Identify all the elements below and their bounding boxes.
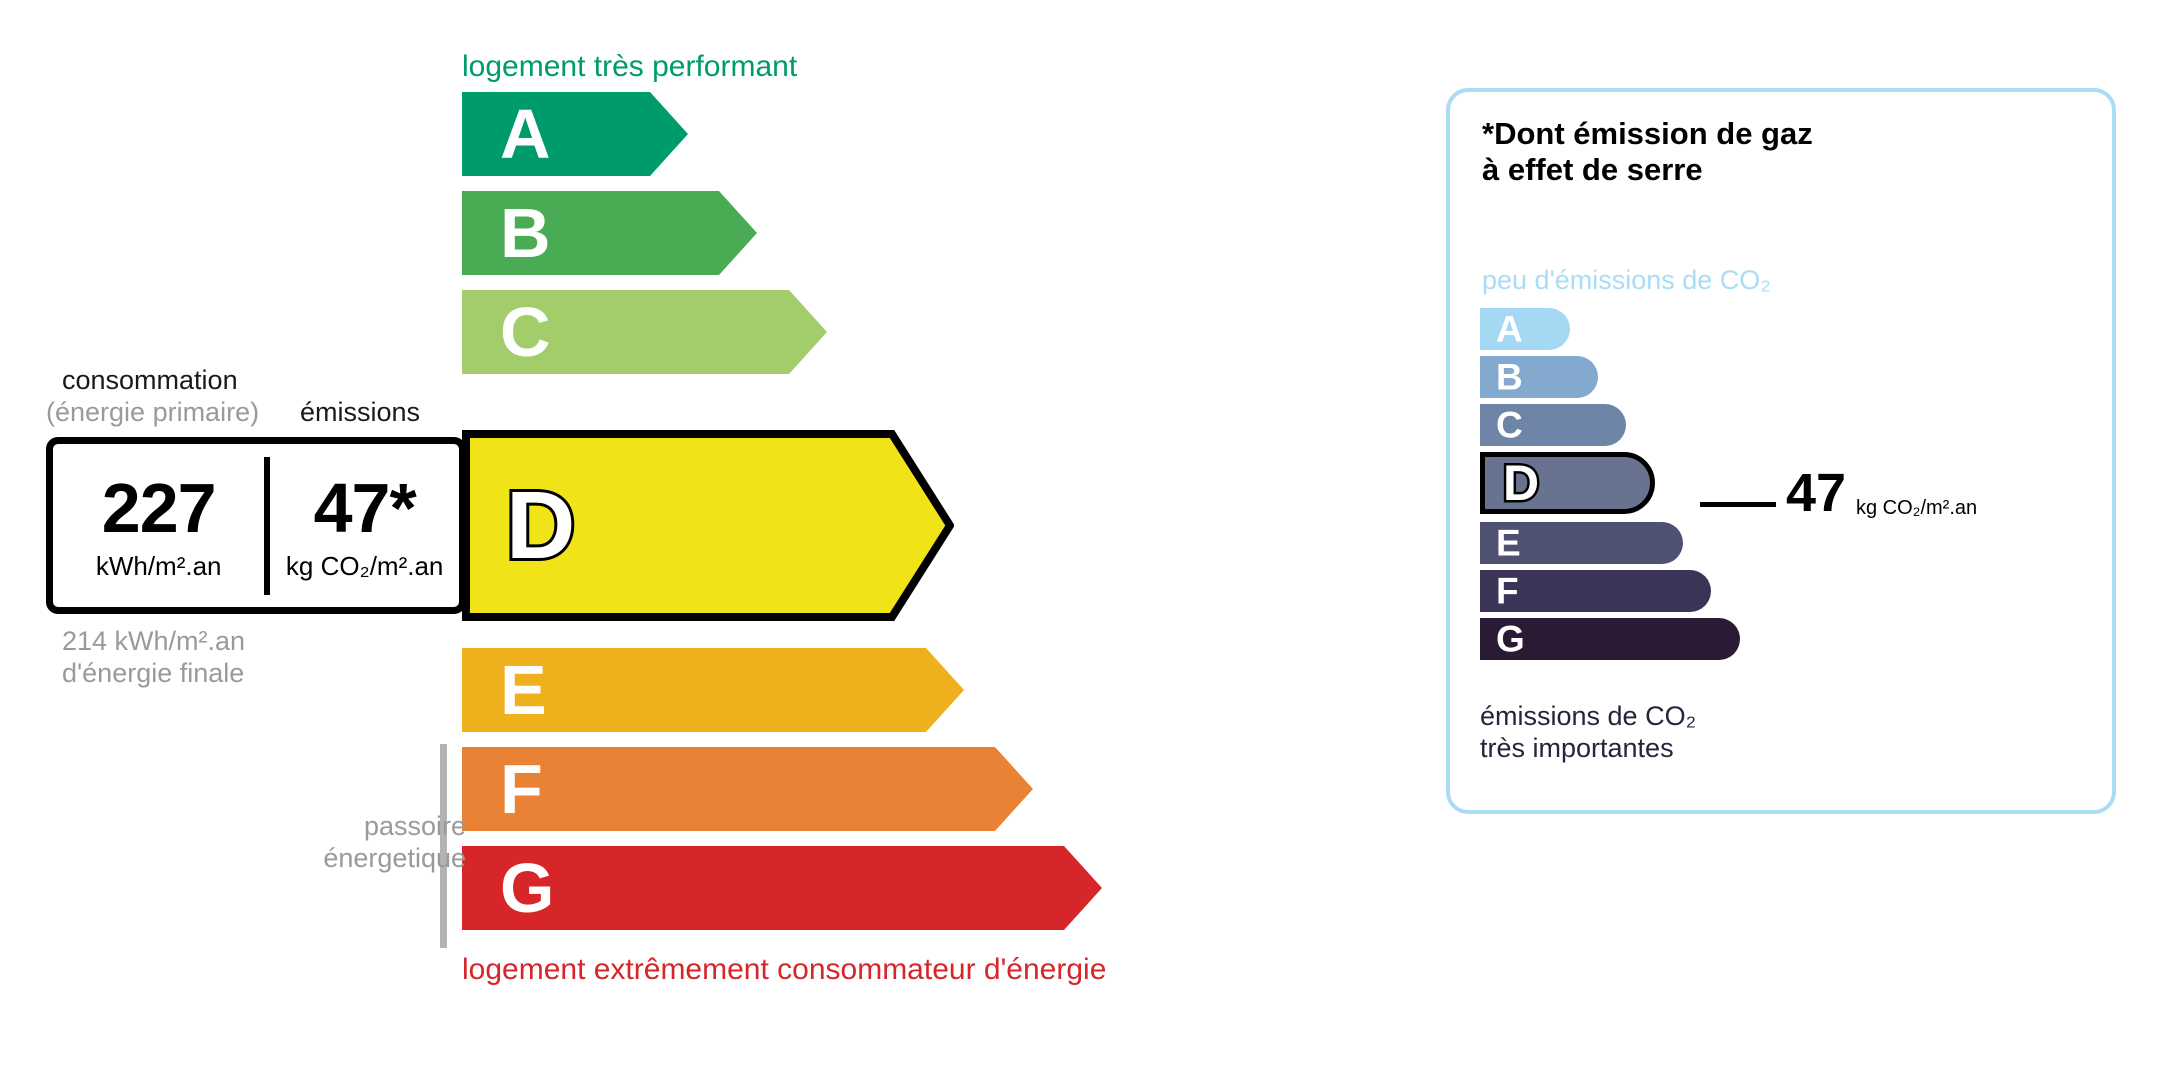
passoire-line-1: passoire (280, 811, 466, 843)
co2-panel-title: *Dont émission de gaz à effet de serre (1482, 116, 1813, 189)
co2-bar-shape-d: D (1480, 452, 1655, 514)
energie-finale-label: 214 kWh/m².an d'énergie finale (62, 626, 245, 690)
energy-arrow-shape-e (462, 648, 964, 732)
energy-bar-e: E (462, 648, 964, 732)
energy-consumption-panel: logement très performant A B C (0, 0, 1400, 1079)
co2-letter-e: E (1496, 525, 1521, 562)
co2-bar-f: F (1480, 570, 1711, 612)
co2-bar-shape-a: A (1480, 308, 1570, 350)
consumption-number: 227 (53, 473, 264, 543)
co2-callout-unit: kg CO₂/m².an (1856, 497, 1977, 520)
energy-arrow-shape-c (462, 290, 827, 374)
co2-bar-c: C (1480, 404, 1626, 446)
co2-bar-a: A (1480, 308, 1570, 350)
emissions-label: émissions (300, 397, 420, 428)
co2-letter-d: D (1503, 458, 1539, 508)
co2-letter-a: A (1496, 311, 1523, 348)
energy-bar-g: G (462, 846, 1102, 930)
co2-letter-b: B (1496, 359, 1523, 396)
co2-bar-shape-g: G (1480, 618, 1740, 660)
co2-top-caption: peu d'émissions de CO₂ (1482, 265, 1771, 296)
dpe-label: logement très performant A B C (0, 0, 2169, 1079)
co2-bar-e: E (1480, 522, 1683, 564)
co2-callout-value: 47 (1786, 466, 1846, 520)
energy-arrow-shape-f (462, 747, 1033, 831)
emission-value-cell: 47* kg CO₂/m².an (270, 473, 459, 579)
consumption-value-cell: 227 kWh/m².an (53, 473, 264, 579)
value-box: 227 kWh/m².an 47* kg CO₂/m².an (46, 437, 466, 614)
energie-finale-line-1: 214 kWh/m².an (62, 626, 245, 658)
co2-bar-shape-f: F (1480, 570, 1711, 612)
energy-bar-a: A (462, 92, 688, 176)
energy-arrow-shape-d (462, 430, 954, 621)
co2-bottom-caption-line-1: émissions de CO₂ (1480, 701, 1696, 733)
co2-bar-b: B (1480, 356, 1598, 398)
consommation-label: consommation (62, 365, 238, 396)
co2-callout-leader-line (1700, 502, 1776, 507)
energy-arrow-shape-g (462, 846, 1102, 930)
consumption-unit: kWh/m².an (53, 553, 264, 579)
emission-unit: kg CO₂/m².an (270, 553, 459, 579)
co2-bar-shape-c: C (1480, 404, 1626, 446)
energy-bottom-caption: logement extrêmement consommateur d'éner… (462, 953, 1106, 987)
co2-title-line-1: *Dont émission de gaz (1482, 116, 1813, 152)
co2-bar-shape-e: E (1480, 522, 1683, 564)
co2-bar-d-selected: D (1480, 452, 1655, 514)
energie-finale-line-2: d'énergie finale (62, 658, 245, 690)
energy-bar-b: B (462, 191, 757, 275)
energy-bar-f: F (462, 747, 1033, 831)
energy-bar-d-selected: D (462, 430, 954, 621)
co2-bar-shape-b: B (1480, 356, 1598, 398)
co2-title-line-2: à effet de serre (1482, 152, 1813, 188)
energy-top-caption: logement très performant (462, 50, 797, 84)
co2-bottom-caption: émissions de CO₂ très importantes (1480, 701, 1696, 764)
energy-bar-c: C (462, 290, 827, 374)
co2-letter-f: F (1496, 573, 1519, 610)
energy-arrow-shape-a (462, 92, 688, 176)
passoire-energetique-label: passoire énergetique (280, 811, 466, 875)
energie-primaire-label: (énergie primaire) (46, 397, 259, 428)
passoire-line-2: énergetique (280, 843, 466, 875)
co2-letter-c: C (1496, 407, 1523, 444)
emission-number: 47* (270, 473, 459, 543)
co2-bar-g: G (1480, 618, 1740, 660)
energy-arrow-shape-b (462, 191, 757, 275)
co2-bottom-caption-line-2: très importantes (1480, 733, 1696, 765)
co2-emission-panel: *Dont émission de gaz à effet de serre p… (1446, 88, 2116, 814)
co2-letter-g: G (1496, 621, 1525, 658)
